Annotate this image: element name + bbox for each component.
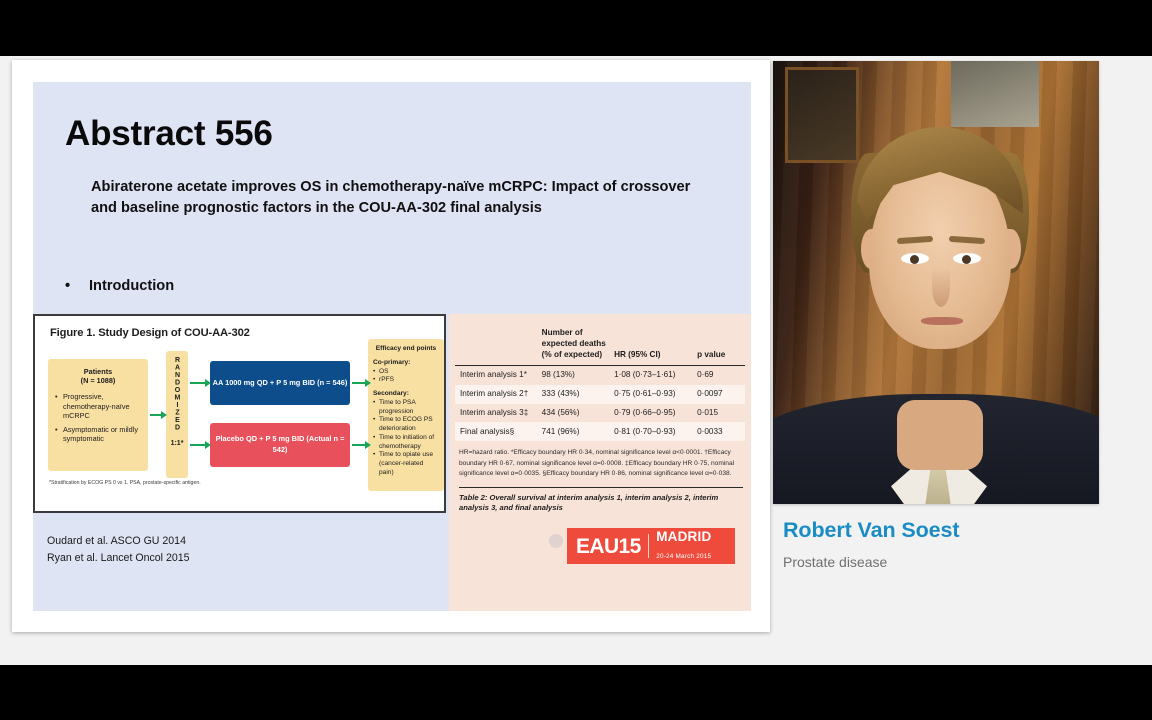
cell-hr: 0·75 (0·61–0·93): [611, 385, 694, 404]
cell-pvalue: 0·0033: [694, 422, 745, 441]
logo-eau-text: EAU15: [576, 536, 641, 557]
table-body: Interim analysis 1* 98 (13%) 1·08 (0·73–…: [455, 365, 745, 441]
cell-pvalue: 0·69: [694, 365, 745, 384]
table-row: Interim analysis 1* 98 (13%) 1·08 (0·73–…: [455, 365, 745, 384]
table-2-footnote: HR=hazard ratio. *Efficacy boundary HR 0…: [449, 441, 751, 479]
background-picture-frame: [785, 67, 859, 163]
logo-city-block: MADRID 20-24 March 2015: [656, 529, 711, 563]
citation-line: Oudard et al. ASCO GU 2014: [47, 533, 190, 550]
slide-title: Abstract 556: [65, 114, 273, 154]
table-row: Interim analysis 2† 333 (43%) 0·75 (0·61…: [455, 385, 745, 404]
slide-bullet-introduction: • Introduction: [65, 278, 465, 294]
arrow-icon: [190, 444, 206, 446]
row-label: Interim analysis 3‡: [455, 404, 539, 423]
list-item: Time to ECOG PS deterioration: [373, 416, 439, 434]
letterbox-top: [0, 0, 1152, 56]
arrow-icon: [190, 382, 206, 384]
patients-criteria-list: Progressive, chemotherapy-naïve mCRPC As…: [55, 392, 141, 444]
cell-hr: 0·81 (0·70–0·93): [611, 422, 694, 441]
list-item: OS: [373, 368, 439, 377]
column-header-hr: HR (95% CI): [611, 324, 694, 365]
table-header-row: Number ofexpected deaths(% of expected) …: [455, 324, 745, 365]
letterbox-bottom: [0, 665, 1152, 720]
patients-title: Patients: [55, 367, 141, 376]
list-item: Asymptomatic or mildly symptomatic: [55, 425, 141, 444]
cell-deaths: 333 (43%): [539, 385, 611, 404]
speaker-topic: Prostate disease: [783, 554, 887, 570]
speaker-neck: [897, 400, 983, 470]
cell-hr: 0·79 (0·66–0·95): [611, 404, 694, 423]
randomization-ratio: 1:1*: [171, 439, 184, 449]
slide-citations: Oudard et al. ASCO GU 2014 Ryan et al. L…: [47, 533, 190, 566]
figure-1-study-design: Figure 1. Study Design of COU-AA-302 Pat…: [33, 314, 446, 513]
table-2-wrapper: Number ofexpected deaths(% of expected) …: [449, 314, 751, 441]
figure-1-heading: Figure 1. Study Design of COU-AA-302: [50, 327, 250, 339]
row-label: Final analysis§: [455, 422, 539, 441]
speaker-pupil-left: [910, 255, 919, 264]
table-head: Number ofexpected deaths(% of expected) …: [455, 324, 745, 365]
figure-box-placebo-arm: Placebo QD + P 5 mg BID (Actual n = 542): [210, 423, 350, 467]
logo-dates-text: 20-24 March 2015: [656, 553, 711, 560]
table-2-caption: Table 2: Overall survival at interim ana…: [449, 488, 751, 515]
endpoints-title: Efficacy end points: [373, 345, 439, 354]
speaker-nose: [932, 267, 950, 307]
watermark-icon: [549, 534, 563, 548]
list-item: Progressive, chemotherapy-naïve mCRPC: [55, 392, 141, 421]
endpoints-secondary-list: Time to PSA progression Time to ECOG PS …: [373, 399, 439, 478]
table-row: Interim analysis 3‡ 434 (56%) 0·79 (0·66…: [455, 404, 745, 423]
list-item: rPFS: [373, 376, 439, 385]
endpoints-coprimary-list: OS rPFS: [373, 368, 439, 386]
arrow-icon: [150, 414, 162, 416]
background-wall-panel: [951, 61, 1039, 127]
speaker-name: Robert Van Soest: [783, 518, 959, 543]
endpoints-coprimary-label: Co-primary:: [373, 359, 439, 368]
bullet-dot-icon: •: [65, 278, 73, 294]
column-header-pvalue: p value: [694, 324, 745, 365]
arrow-icon: [352, 382, 366, 384]
row-label: Interim analysis 2†: [455, 385, 539, 404]
logo-divider: [648, 534, 650, 558]
citation-line: Ryan et al. Lancet Oncol 2015: [47, 550, 190, 567]
table-row: Final analysis§ 741 (96%) 0·81 (0·70–0·9…: [455, 422, 745, 441]
slide-surface: Abstract 556 Abiraterone acetate improve…: [33, 82, 751, 611]
row-label: Interim analysis 1*: [455, 365, 539, 384]
figure-1-inner: Figure 1. Study Design of COU-AA-302 Pat…: [38, 319, 441, 508]
slide-card[interactable]: Abstract 556 Abiraterone acetate improve…: [12, 60, 770, 632]
column-header-deaths: Number ofexpected deaths(% of expected): [539, 324, 611, 365]
figure-box-efficacy-endpoints: Efficacy end points Co-primary: OS rPFS …: [368, 339, 444, 491]
speaker-pupil-right: [962, 255, 971, 264]
figure-1-footnote: *Stratification by ECOG PS 0 vs 1. PSA, …: [49, 479, 269, 488]
patients-n: (N = 1088): [55, 376, 141, 385]
list-item: Time to PSA progression: [373, 399, 439, 417]
speaker-video-thumbnail[interactable]: [773, 61, 1099, 504]
table-2: Number ofexpected deaths(% of expected) …: [455, 324, 745, 441]
slide-subtitle: Abiraterone acetate improves OS in chemo…: [91, 177, 701, 220]
cell-pvalue: 0·015: [694, 404, 745, 423]
cell-hr: 1·08 (0·73–1·61): [611, 365, 694, 384]
endpoints-secondary-label: Secondary:: [373, 390, 439, 399]
eau15-madrid-logo: EAU15 MADRID 20-24 March 2015: [567, 528, 735, 564]
randomized-vertical-label: RANDOMIZED: [172, 357, 182, 432]
presentation-content: Abstract 556 Abiraterone acetate improve…: [0, 56, 1152, 665]
cell-pvalue: 0·0097: [694, 385, 745, 404]
table-2-panel: Number ofexpected deaths(% of expected) …: [449, 314, 751, 611]
figure-box-treatment-arm: AA 1000 mg QD + P 5 mg BID (n = 546): [210, 361, 350, 405]
list-item: Time to initiation of chemotherapy: [373, 434, 439, 452]
speaker-mouth: [921, 317, 963, 325]
cell-deaths: 741 (96%): [539, 422, 611, 441]
figure-box-randomized: RANDOMIZED 1:1*: [166, 351, 188, 478]
video-player-stage: Abstract 556 Abiraterone acetate improve…: [0, 0, 1152, 720]
figure-box-patients: Patients (N = 1088) Progressive, chemoth…: [48, 359, 148, 471]
slide-bullet-label: Introduction: [89, 278, 174, 294]
arrow-icon: [352, 444, 366, 446]
cell-deaths: 98 (13%): [539, 365, 611, 384]
column-header-blank: [455, 324, 539, 365]
list-item: Time to opiate use (cancer-related pain): [373, 451, 439, 477]
logo-city-text: MADRID: [656, 529, 711, 544]
cell-deaths: 434 (56%): [539, 404, 611, 423]
